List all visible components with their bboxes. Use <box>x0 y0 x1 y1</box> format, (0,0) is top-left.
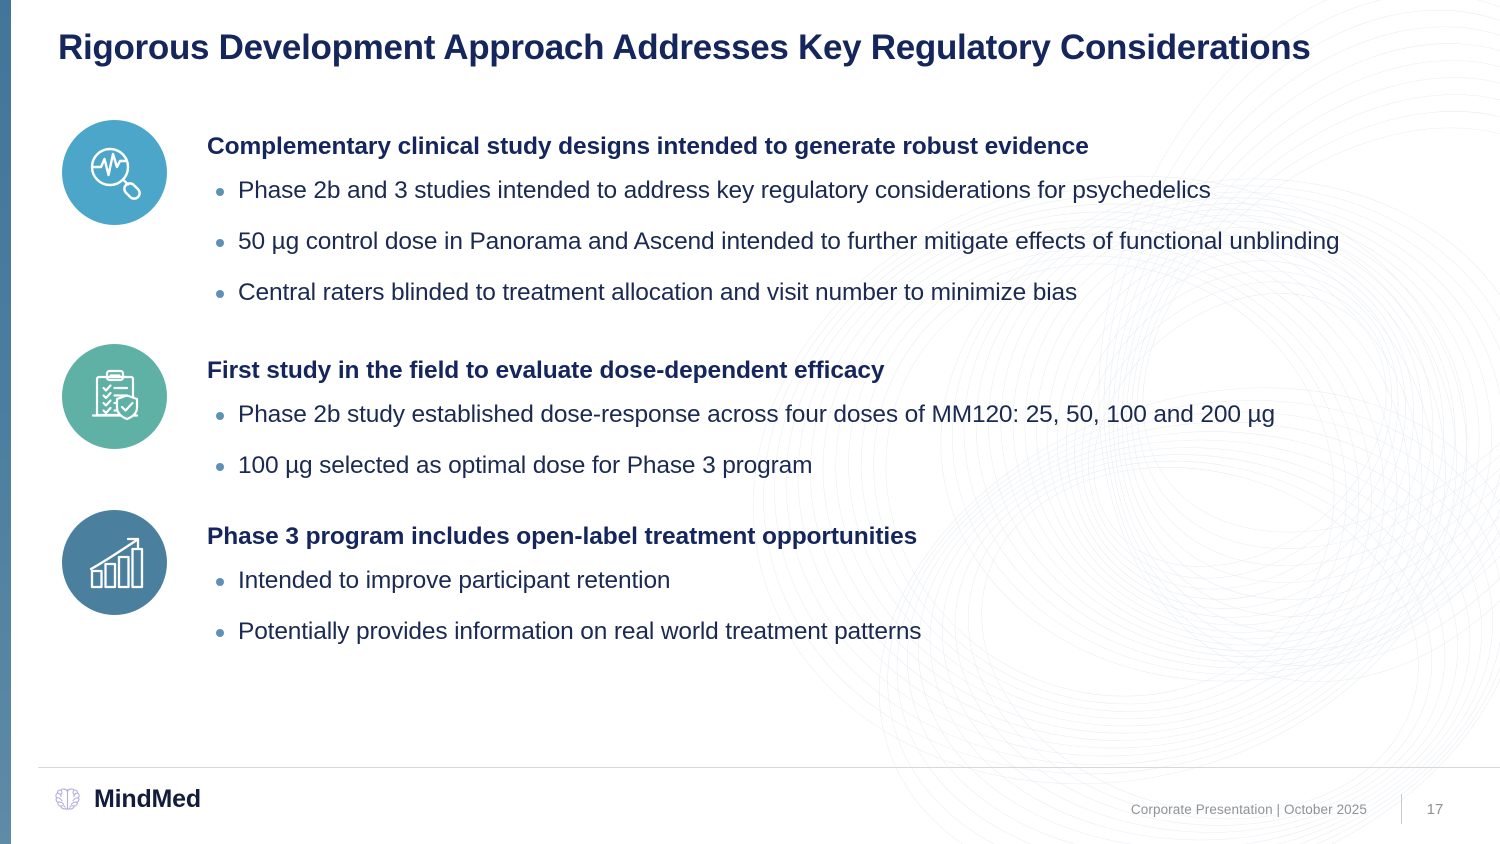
presentation-meta: Corporate Presentation | October 2025 <box>1131 802 1401 817</box>
footer-meta-group: Corporate Presentation | October 2025 17 <box>1131 794 1468 824</box>
text-column: Phase 3 program includes open-label trea… <box>207 510 1500 650</box>
list-item: 50 µg control dose in Panorama and Ascen… <box>207 225 1403 260</box>
brain-icon <box>52 784 83 815</box>
bullet-list: Intended to improve participant retentio… <box>207 564 1500 650</box>
list-item: Phase 2b and 3 studies intended to addre… <box>207 174 1403 209</box>
section-heading: Complementary clinical study designs int… <box>207 132 1500 161</box>
icon-column <box>0 510 207 615</box>
clipboard-shield-icon <box>62 344 167 449</box>
left-accent-bar <box>0 0 11 844</box>
slide-footer: MindMed Corporate Presentation | October… <box>0 768 1500 844</box>
slide-body: Complementary clinical study designs int… <box>0 120 1500 650</box>
magnifier-pulse-icon <box>62 120 167 225</box>
icon-column <box>0 344 207 449</box>
list-item: Potentially provides information on real… <box>207 615 1403 650</box>
page-number: 17 <box>1402 801 1468 818</box>
brand-logo: MindMed <box>52 784 201 815</box>
bullet-list: Phase 2b and 3 studies intended to addre… <box>207 174 1500 310</box>
list-item: 100 µg selected as optimal dose for Phas… <box>207 449 1403 484</box>
section-heading: First study in the field to evaluate dos… <box>207 356 1500 385</box>
list-item: Phase 2b study established dose-response… <box>207 398 1403 433</box>
section-heading: Phase 3 program includes open-label trea… <box>207 522 1500 551</box>
text-column: Complementary clinical study designs int… <box>207 120 1500 311</box>
bullet-list: Phase 2b study established dose-response… <box>207 398 1500 484</box>
slide: Rigorous Development Approach Addresses … <box>0 0 1500 844</box>
icon-column <box>0 120 207 225</box>
section-clinical-study-designs: Complementary clinical study designs int… <box>0 120 1500 311</box>
text-column: First study in the field to evaluate dos… <box>207 344 1500 484</box>
list-item: Central raters blinded to treatment allo… <box>207 276 1403 311</box>
section-dose-dependent-efficacy: First study in the field to evaluate dos… <box>0 344 1500 484</box>
section-open-label-treatment: Phase 3 program includes open-label trea… <box>0 510 1500 650</box>
bar-chart-growth-icon <box>62 510 167 615</box>
brand-name: MindMed <box>94 785 201 814</box>
list-item: Intended to improve participant retentio… <box>207 564 1403 599</box>
slide-title: Rigorous Development Approach Addresses … <box>58 28 1311 68</box>
